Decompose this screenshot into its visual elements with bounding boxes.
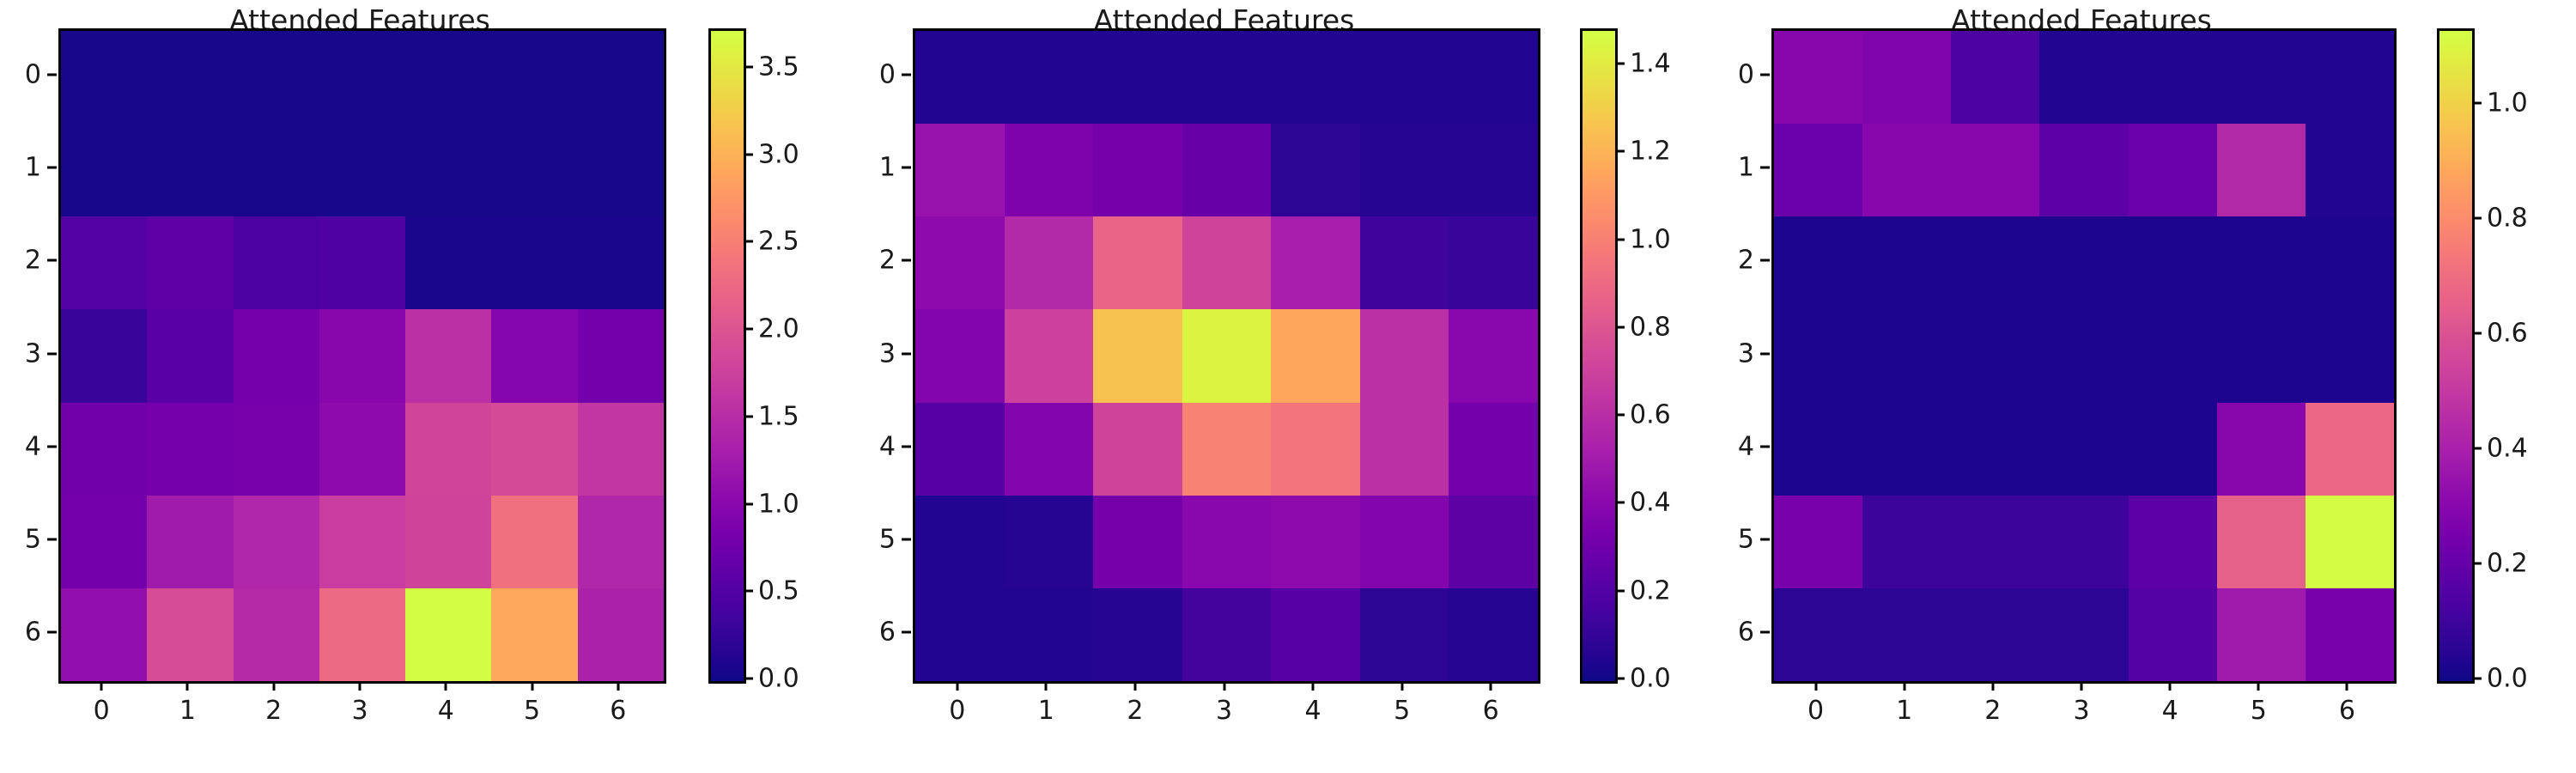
heatmap-cell — [1774, 216, 1862, 309]
figure-canvas: Attended Features012345601234560.00.51.0… — [0, 0, 2576, 773]
x-tick-label: 1 — [1896, 696, 1912, 726]
colorbar-tick-label: 0.2 — [2487, 549, 2528, 579]
x-tick-label: 5 — [2251, 696, 2267, 726]
y-tick-label: 5 — [1707, 524, 1754, 554]
heatmap-cell — [1951, 403, 2039, 496]
heatmap-cell — [2306, 309, 2394, 402]
y-tick-label: 0 — [1707, 60, 1754, 90]
heatmap-axes — [1771, 28, 2397, 684]
heatmap-cell — [2039, 496, 2128, 588]
colorbar-tick-mark — [2472, 332, 2482, 335]
colorbar-tick-label: 1.0 — [2487, 88, 2528, 119]
heatmap-cell — [2217, 216, 2306, 309]
heatmap-cell — [1862, 124, 1951, 216]
y-tick-mark — [1760, 167, 1770, 169]
heatmap-cell — [2217, 124, 2306, 216]
heatmap-cell — [2039, 403, 2128, 496]
heatmap-cell — [2306, 496, 2394, 588]
heatmap-cell — [2217, 309, 2306, 402]
y-tick-mark — [1760, 538, 1770, 540]
heatmap-cell — [2039, 31, 2128, 124]
y-tick-label: 1 — [1707, 153, 1754, 183]
heatmap-cell — [2306, 31, 2394, 124]
y-tick-label: 3 — [1707, 338, 1754, 368]
heatmap-cell — [2039, 124, 2128, 216]
heatmap-cell — [1951, 588, 2039, 681]
y-tick-mark — [1760, 259, 1770, 262]
heatmap-cell — [1774, 31, 1862, 124]
y-tick-mark — [1760, 74, 1770, 76]
heatmap-cell — [2217, 588, 2306, 681]
heatmap-cell — [1774, 403, 1862, 496]
x-tick-label: 2 — [1984, 696, 2001, 726]
x-tick-label: 4 — [2162, 696, 2178, 726]
x-tick-mark — [2081, 681, 2083, 691]
heatmap-cell — [2129, 403, 2217, 496]
x-tick-label: 6 — [2339, 696, 2355, 726]
x-tick-mark — [1903, 681, 1905, 691]
heatmap-cell — [1951, 216, 2039, 309]
heatmap-cell — [2129, 309, 2217, 402]
heatmap-cell — [2129, 124, 2217, 216]
x-tick-mark — [1991, 681, 1994, 691]
heatmap-cell — [2039, 588, 2128, 681]
x-tick-mark — [2257, 681, 2260, 691]
x-tick-mark — [2346, 681, 2348, 691]
colorbar-gradient — [2439, 31, 2472, 681]
colorbar — [2437, 28, 2475, 684]
colorbar-tick-label: 0.0 — [2487, 664, 2528, 694]
heatmap-cell — [2129, 496, 2217, 588]
heatmap-cell — [1862, 403, 1951, 496]
heatmap-cell — [1774, 124, 1862, 216]
heatmap-panel-3: Attended Features012345601234560.00.20.4… — [0, 0, 2576, 773]
heatmap-cell — [1951, 309, 2039, 402]
y-tick-label: 6 — [1707, 617, 1754, 647]
heatmap-cell — [2039, 309, 2128, 402]
colorbar-tick-mark — [2472, 102, 2482, 105]
heatmap-cell — [2306, 216, 2394, 309]
y-tick-mark — [1760, 630, 1770, 633]
colorbar-tick-mark — [2472, 678, 2482, 680]
heatmap-cell — [1951, 31, 2039, 124]
x-tick-mark — [1814, 681, 1817, 691]
heatmap-grid — [1774, 31, 2394, 681]
heatmap-cell — [2129, 216, 2217, 309]
heatmap-cell — [2217, 403, 2306, 496]
heatmap-cell — [1951, 124, 2039, 216]
heatmap-cell — [1862, 309, 1951, 402]
heatmap-cell — [2129, 31, 2217, 124]
y-tick-mark — [1760, 352, 1770, 355]
y-tick-label: 4 — [1707, 431, 1754, 461]
colorbar-tick-label: 0.6 — [2487, 319, 2528, 349]
heatmap-cell — [2306, 588, 2394, 681]
x-tick-label: 3 — [2073, 696, 2089, 726]
heatmap-cell — [1774, 496, 1862, 588]
heatmap-cell — [1774, 309, 1862, 402]
colorbar-tick-mark — [2472, 447, 2482, 450]
colorbar-tick-mark — [2472, 217, 2482, 220]
heatmap-cell — [2039, 216, 2128, 309]
colorbar-tick-label: 0.8 — [2487, 204, 2528, 234]
heatmap-cell — [1862, 588, 1951, 681]
heatmap-cell — [1774, 588, 1862, 681]
heatmap-cell — [2217, 31, 2306, 124]
heatmap-cell — [1951, 496, 2039, 588]
heatmap-cell — [2306, 403, 2394, 496]
heatmap-cell — [1862, 216, 1951, 309]
colorbar-tick-label: 0.4 — [2487, 434, 2528, 464]
heatmap-cell — [2306, 124, 2394, 216]
heatmap-cell — [1862, 31, 1951, 124]
heatmap-cell — [2129, 588, 2217, 681]
x-tick-mark — [2169, 681, 2172, 691]
heatmap-cell — [1862, 496, 1951, 588]
y-tick-mark — [1760, 445, 1770, 447]
x-tick-label: 0 — [1807, 696, 1824, 726]
colorbar-tick-mark — [2472, 563, 2482, 565]
y-tick-label: 2 — [1707, 246, 1754, 276]
heatmap-cell — [2217, 496, 2306, 588]
